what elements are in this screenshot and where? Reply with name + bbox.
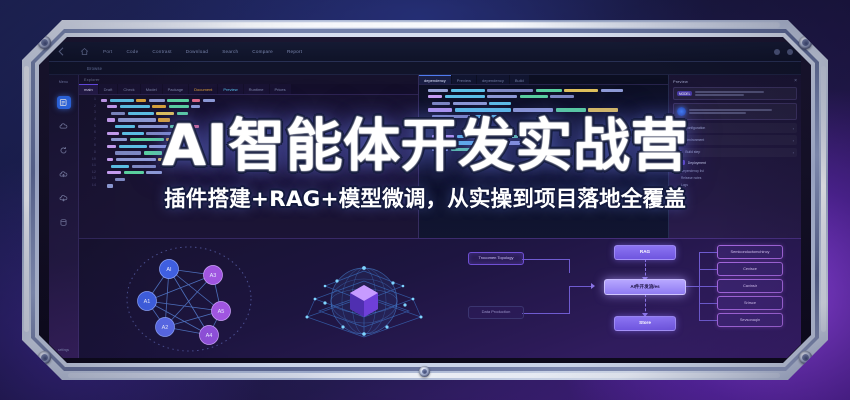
editor-path-row: Explorer xyxy=(79,75,418,84)
tab-preview[interactable]: Preview xyxy=(218,84,242,94)
line-number: 6 xyxy=(82,131,96,135)
line-number: 7 xyxy=(82,138,96,142)
editor-tabstrip-primary: main Draft Check Model Package Document … xyxy=(79,84,418,95)
frame-bolt-icon xyxy=(419,366,430,377)
line-number: 5 xyxy=(82,125,96,129)
properties-panel-title: Preview xyxy=(673,80,688,84)
sidebar-item-refresh[interactable] xyxy=(57,144,71,157)
sidebar-item-download[interactable] xyxy=(57,192,71,205)
tab-build[interactable]: Build xyxy=(510,75,529,84)
row-badge: B xyxy=(676,138,682,143)
flow-node-output-4[interactable]: Sevsonaqin xyxy=(717,313,783,327)
tab-model[interactable]: Model xyxy=(141,84,162,94)
row-label: Configuration xyxy=(685,126,705,130)
frame-gloss-corner-tr xyxy=(786,0,831,40)
files-icon xyxy=(59,98,68,107)
tab-package[interactable]: Package xyxy=(163,84,189,94)
database-icon xyxy=(59,218,68,227)
menu-item-1[interactable]: Code xyxy=(126,49,138,54)
breadcrumb-bar: Browse xyxy=(49,62,801,75)
edge-data-out xyxy=(522,313,570,314)
flow-node-rag[interactable]: RAG xyxy=(614,245,676,260)
properties-row-configuration[interactable]: A Configuration › xyxy=(673,123,797,133)
sidebar-item-files[interactable] xyxy=(57,96,71,109)
tab-dependency[interactable]: dependency xyxy=(419,75,451,84)
flow-node-output-2[interactable]: Cavinsir xyxy=(717,279,783,293)
properties-card[interactable]: MODEL xyxy=(673,87,797,100)
graph-node-label: A3 xyxy=(210,273,217,279)
flow-node-topology[interactable]: Trocomen Topology xyxy=(468,252,524,265)
frame-bolt-icon xyxy=(38,36,51,49)
flow-node-output-3[interactable]: Srirsce xyxy=(717,296,783,310)
sidebar-item-upload[interactable] xyxy=(57,168,71,181)
graph-node-label: AI xyxy=(166,267,172,273)
frame-gloss-right xyxy=(821,66,826,332)
line-number: 11 xyxy=(82,164,96,168)
editor-path-label: Explorer xyxy=(84,78,100,82)
back-arrow-icon[interactable] xyxy=(57,47,66,56)
frame-bolt-icon xyxy=(38,351,51,364)
frame-gloss-corner-tl xyxy=(19,0,64,40)
code-editor-primary[interactable]: 1 2 3 4 5 6 7 8 9 10 xyxy=(79,95,418,241)
flow-node-data-production[interactable]: Data Production xyxy=(468,306,524,319)
section-label: Deployment xyxy=(688,161,706,165)
menu-item-2[interactable]: Contrast xyxy=(152,49,171,54)
frame-gloss-corner-br xyxy=(786,360,831,400)
properties-card-eye[interactable] xyxy=(673,103,797,120)
code-editor-secondary[interactable] xyxy=(419,85,668,231)
eye-icon xyxy=(677,107,686,116)
sidebar-item-database[interactable] xyxy=(57,216,71,229)
menu-item-3[interactable]: Download xyxy=(186,49,208,54)
menu-item-4[interactable]: Search xyxy=(222,49,238,54)
tab-check[interactable]: Check xyxy=(118,84,139,94)
breadcrumb: Browse xyxy=(87,66,102,71)
edge-topology-out xyxy=(522,259,570,260)
editor-tabstrip-secondary: dependency Preview dependency Build xyxy=(419,75,668,85)
tab-runtime[interactable]: Runtime xyxy=(244,84,269,94)
chevron-right-icon[interactable]: › xyxy=(793,126,794,131)
tab-dependency-2[interactable]: dependency xyxy=(477,75,509,84)
properties-section-header: NEW Deployment xyxy=(674,160,797,165)
flow-node-store[interactable]: Store xyxy=(614,316,676,331)
graph-node-label: A5 xyxy=(218,309,225,315)
row-label: Build step xyxy=(685,150,700,154)
line-number: 10 xyxy=(82,158,96,162)
isometric-data-core xyxy=(289,241,439,358)
browser-menubar: Port Code Contrast Download Search Compa… xyxy=(49,42,801,62)
properties-subrow[interactable]: Logs xyxy=(673,182,797,189)
close-icon[interactable]: × xyxy=(794,79,797,84)
agent-network-graph: AI A3 A1 A5 A2 A4 xyxy=(117,241,267,358)
line-number: 4 xyxy=(82,118,96,122)
tab-main[interactable]: main xyxy=(79,84,98,94)
activity-rail-footer[interactable]: settings xyxy=(58,348,69,352)
activity-rail: Menu settings xyxy=(49,75,79,358)
properties-subrow[interactable]: Release notes xyxy=(673,175,797,182)
flow-node-center[interactable]: AI件开发流/es xyxy=(604,279,686,295)
edge-fanout-1 xyxy=(699,269,717,270)
graph-node-label: A2 xyxy=(162,325,169,331)
properties-row-environment[interactable]: B Environment › xyxy=(673,135,797,145)
illustration-strip: AI A3 A1 A5 A2 A4 xyxy=(79,238,801,358)
properties-row-build[interactable]: C Build step › xyxy=(673,148,797,158)
line-number: 12 xyxy=(82,171,96,175)
more-dot-icon[interactable] xyxy=(787,49,793,55)
ai-agent-pipeline-diagram: RAG AI件开发流/es Store Trocomen Topology Da… xyxy=(464,239,799,358)
flow-node-output-0[interactable]: Semiconductomchincy xyxy=(717,245,783,259)
properties-subrow[interactable]: Dependency list xyxy=(673,167,797,174)
line-number: 2 xyxy=(82,105,96,109)
line-number: 3 xyxy=(82,111,96,115)
edge-join-vertical xyxy=(569,286,570,314)
line-number: 1 xyxy=(82,98,96,102)
tab-document[interactable]: Document xyxy=(189,84,217,94)
flow-node-output-1[interactable]: Cevisce xyxy=(717,262,783,276)
chevron-right-icon[interactable]: › xyxy=(793,150,794,155)
frame-gloss-top xyxy=(68,22,780,28)
edge-fanout-0 xyxy=(699,252,717,253)
frame-gloss-corner-bl xyxy=(19,360,64,400)
row-badge: C xyxy=(676,150,682,155)
frame-bolt-icon xyxy=(799,351,812,364)
chevron-right-icon[interactable]: › xyxy=(793,138,794,143)
tab-preview-2[interactable]: Preview xyxy=(452,75,476,84)
screen: Port Code Contrast Download Search Compa… xyxy=(49,42,801,358)
graph-node-label: A4 xyxy=(206,333,213,339)
frame-bolt-icon xyxy=(799,36,812,49)
tab-prices[interactable]: Prices xyxy=(270,84,291,94)
edge-fanout-4 xyxy=(699,320,717,321)
activity-rail-title: Menu xyxy=(59,80,68,84)
line-number: 9 xyxy=(82,151,96,155)
edge-join-to-center xyxy=(569,286,591,287)
model-badge: MODEL xyxy=(677,91,692,96)
home-icon[interactable] xyxy=(80,47,89,56)
row-badge: A xyxy=(676,126,682,131)
line-number: 8 xyxy=(82,144,96,148)
line-number: 14 xyxy=(82,184,96,188)
download-cloud-icon xyxy=(59,194,68,203)
graph-node-label: A1 xyxy=(144,299,151,305)
frame-gloss-left xyxy=(24,66,29,332)
menu-item-5[interactable]: Compare xyxy=(252,49,273,54)
arrowhead-icon xyxy=(591,283,595,289)
menu-item-0[interactable]: Port xyxy=(103,49,112,54)
row-label: Environment xyxy=(685,138,704,142)
line-number: 13 xyxy=(82,177,96,181)
cloud-icon xyxy=(59,122,68,131)
edge-topology-to-join xyxy=(569,259,570,273)
section-tag-badge: NEW xyxy=(674,160,685,165)
edge-fanout-3 xyxy=(699,303,717,304)
banner-stage: Port Code Contrast Download Search Compa… xyxy=(0,0,850,400)
menu-item-6[interactable]: Report xyxy=(287,49,302,54)
edge-fanout-2 xyxy=(699,286,717,287)
settings-dot-icon[interactable] xyxy=(774,49,780,55)
sidebar-item-cloud[interactable] xyxy=(57,120,71,133)
tab-draft[interactable]: Draft xyxy=(99,84,118,94)
upload-cloud-icon xyxy=(59,170,68,179)
refresh-icon xyxy=(59,146,68,155)
